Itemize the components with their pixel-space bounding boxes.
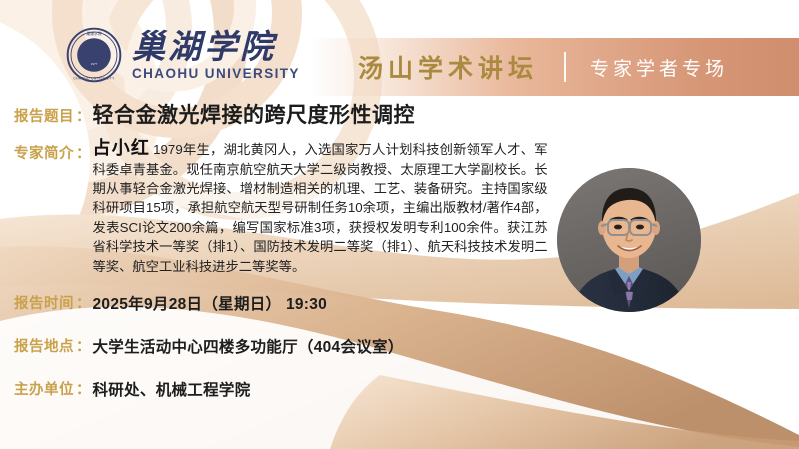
portrait-illustration bbox=[557, 168, 701, 312]
university-header: 1977 巢湖学院 CHAOHU UNIVERSITY 巢湖学院 CHAOHU … bbox=[0, 0, 420, 110]
venue-colon: ： bbox=[74, 335, 93, 356]
topic-label: 报告题目 bbox=[14, 105, 74, 126]
university-crest-icon: 1977 巢湖学院 CHAOHU UNIVERSITY bbox=[66, 27, 122, 83]
venue-label: 报告地点 bbox=[14, 335, 74, 356]
topic-colon: ： bbox=[74, 105, 93, 126]
university-name-cn: 巢湖学院 bbox=[132, 30, 300, 63]
speaker-bio-text: 1979年生，湖北黄冈人，入选国家万人计划科技创新领军人才、军科委卓青基金。现任… bbox=[93, 142, 548, 273]
organizer-colon: ： bbox=[74, 378, 93, 399]
svg-text:1977: 1977 bbox=[91, 62, 98, 66]
time-value: 2025年9月28日（星期日） 19:30 bbox=[93, 292, 328, 314]
speaker-portrait bbox=[557, 168, 701, 312]
banner-subtitle: 专家学者专场 bbox=[590, 54, 728, 81]
time-label: 报告时间 bbox=[14, 292, 74, 313]
venue-row: 报告地点 ： 大学生活动中心四楼多功能厅（404会议室） bbox=[0, 335, 799, 357]
topic-row: 报告题目 ： 轻合金激光焊接的跨尺度形性调控 bbox=[0, 104, 799, 127]
time-row: 报告时间 ： 2025年9月28日（星期日） 19:30 bbox=[0, 292, 799, 314]
university-name-en: CHAOHU UNIVERSITY bbox=[132, 67, 300, 81]
svg-text:巢湖学院: 巢湖学院 bbox=[86, 31, 102, 36]
speaker-label: 专家简介 bbox=[14, 139, 74, 163]
svg-text:CHAOHU UNIVERSITY: CHAOHU UNIVERSITY bbox=[73, 77, 115, 81]
seminar-poster: 汤山学术讲坛 专家学者专场 1977 巢湖学院 CHAOHU UNIVERSIT… bbox=[0, 0, 799, 449]
venue-value: 大学生活动中心四楼多功能厅（404会议室） bbox=[93, 335, 404, 357]
speaker-name: 占小红 bbox=[93, 138, 151, 158]
organizer-label: 主办单位 bbox=[14, 378, 74, 399]
event-details: 报告时间 ： 2025年9月28日（星期日） 19:30 报告地点 ： 大学生活… bbox=[0, 292, 799, 400]
organizer-value: 科研处、机械工程学院 bbox=[93, 378, 251, 400]
organizer-row: 主办单位 ： 科研处、机械工程学院 bbox=[0, 378, 799, 400]
topic-value: 轻合金激光焊接的跨尺度形性调控 bbox=[93, 104, 416, 127]
speaker-bio: 占小红1979年生，湖北黄冈人，入选国家万人计划科技创新领军人才、军科委卓青基金… bbox=[93, 139, 548, 276]
time-colon: ： bbox=[74, 292, 93, 313]
speaker-colon: ： bbox=[74, 139, 93, 163]
banner-divider bbox=[564, 52, 566, 82]
